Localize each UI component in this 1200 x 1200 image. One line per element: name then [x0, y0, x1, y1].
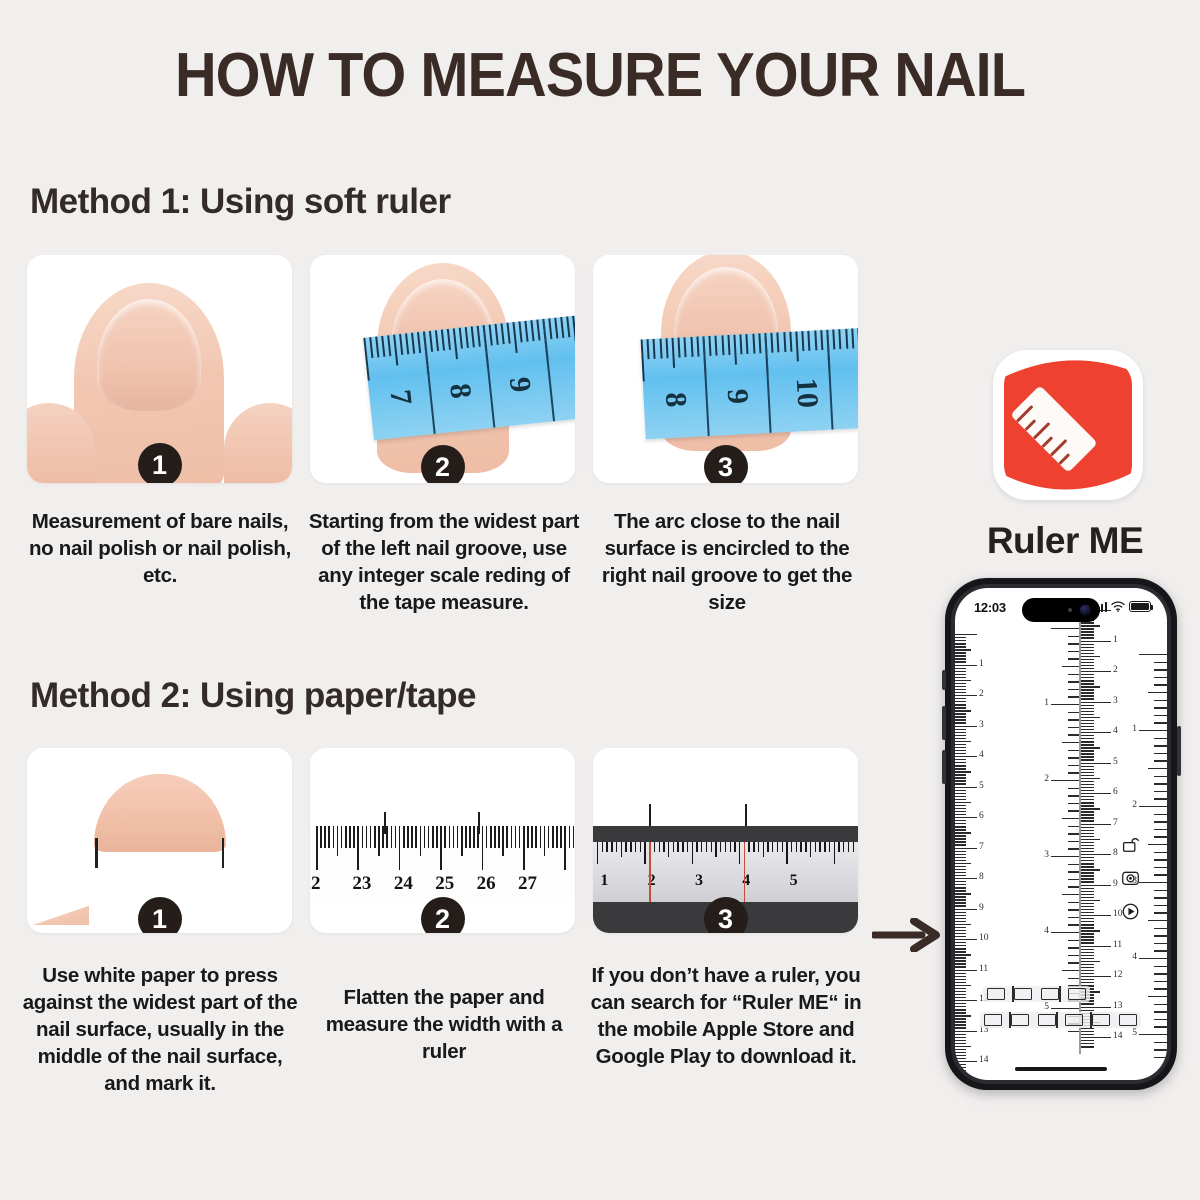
phone-ruler-tick	[1081, 958, 1094, 959]
phone-ruler-tick	[1154, 950, 1167, 951]
phone-ruler-tick	[955, 780, 966, 781]
phone-ruler-tick	[955, 661, 966, 662]
ruler-label: 23	[352, 873, 371, 895]
ruler-tick	[428, 826, 430, 848]
play-icon[interactable]	[1121, 902, 1140, 921]
phone-ruler-tick	[1081, 961, 1100, 962]
ruler-label: 3	[695, 872, 703, 890]
ruler-tick	[569, 826, 571, 848]
finger-corner	[33, 893, 89, 925]
phone-ruler-tick	[955, 1037, 966, 1038]
ruler-tick	[362, 826, 364, 848]
rect-tool[interactable]	[1068, 988, 1086, 1000]
phone-ruler-tick	[955, 866, 966, 867]
home-indicator[interactable]	[1015, 1067, 1107, 1071]
phone-ruler-tick	[1081, 839, 1100, 840]
phone-ruler-tick	[955, 921, 966, 922]
ruler-tick	[663, 842, 664, 852]
ruler-tick	[440, 826, 442, 870]
measure-tool-row-top[interactable]	[983, 986, 1090, 1002]
rect-tool[interactable]	[1041, 988, 1059, 1000]
phone-ruler-tick	[1154, 943, 1167, 944]
ruler-tick	[324, 826, 326, 848]
ruler-tick	[625, 842, 626, 852]
ruler-tick	[630, 842, 631, 852]
phone-ruler-tick	[955, 1000, 977, 1001]
phone-ruler-tick	[1081, 891, 1094, 892]
phone-ruler-tick	[1154, 905, 1167, 906]
ruler-tick	[748, 842, 749, 852]
step-5-photo-card: 22324252627 2	[310, 748, 575, 933]
phone-ruler-tick	[955, 683, 966, 684]
phone-ruler-tick	[955, 796, 966, 797]
phone-ruler-tick	[955, 884, 966, 885]
phone-ruler-tick	[1081, 662, 1094, 663]
phone-ruler-tick	[1139, 958, 1167, 959]
phone-ruler-tick	[1081, 933, 1094, 934]
phone-ruler-tick	[1154, 722, 1167, 723]
phone-ruler-tick	[955, 851, 966, 852]
phone-ruler-tick	[955, 829, 966, 830]
phone-ruler-tick	[955, 951, 966, 952]
ruler-tick	[606, 842, 607, 852]
phone-ruler-tick	[955, 997, 966, 998]
ruler-tick	[556, 826, 558, 848]
ruler-tick	[374, 826, 376, 848]
phone-ruler-tick	[955, 665, 977, 666]
ruler-app-icon[interactable]	[993, 350, 1143, 500]
phone-ruler-tick	[1081, 912, 1094, 913]
phone-ruler-label: 8	[979, 872, 984, 882]
tool-button-group[interactable]	[1121, 834, 1143, 926]
phone-ruler-tick	[1154, 1057, 1167, 1058]
ruler-tick	[548, 826, 550, 848]
rect-tool[interactable]	[1038, 1014, 1056, 1026]
rect-tool[interactable]	[1065, 1014, 1083, 1026]
rect-tool[interactable]	[1119, 1014, 1137, 1026]
phone-ruler-tick	[1081, 808, 1100, 809]
phone-ruler-tick	[955, 973, 966, 974]
phone-ruler-tick	[955, 741, 971, 742]
phone-ruler-tick	[1051, 780, 1081, 781]
phone-ruler-tick	[955, 1015, 971, 1016]
phone-ruler-tick	[955, 649, 971, 650]
tape-number: 8	[657, 391, 692, 408]
phone-ruler-tick	[1154, 912, 1167, 913]
tape-number: 10	[788, 377, 824, 409]
phone-ruler-tick	[955, 1058, 966, 1059]
ruler-tick	[767, 842, 768, 852]
ruler-tick	[644, 842, 645, 864]
ruler-tick	[486, 826, 488, 848]
phone-ruler-tick	[1081, 830, 1094, 831]
dynamic-island	[1022, 598, 1100, 622]
page-title: HOW TO MEASURE YOUR NAIL	[42, 40, 1158, 111]
phone-ruler-tick	[1081, 717, 1100, 718]
rect-tool[interactable]	[984, 1014, 1002, 1026]
phone-ruler-tick	[955, 652, 966, 653]
mute-switch[interactable]	[942, 670, 946, 690]
phone-ruler-tick	[1081, 939, 1094, 940]
phone-ruler-tick	[955, 771, 971, 772]
ruler-red-line	[649, 842, 651, 902]
phone-ruler-tick	[1081, 723, 1094, 724]
phone-ruler-tick	[1154, 776, 1167, 777]
phone-ruler-tick	[955, 878, 977, 879]
ruler-tick	[337, 826, 339, 856]
phone-ruler-tick	[955, 811, 966, 812]
lock-icon[interactable]	[1121, 834, 1140, 853]
knuckle-right	[224, 403, 292, 483]
phone-ruler-tick	[1081, 869, 1100, 870]
phone-ruler-label: 14	[979, 1055, 989, 1065]
ruler-tick	[502, 826, 504, 856]
phone-ruler-tick	[955, 1052, 966, 1053]
phone-ruler-tick	[1081, 647, 1094, 648]
battery-icon	[1129, 601, 1151, 612]
phone-ruler-tick	[955, 988, 966, 989]
phone-ruler-tick	[1154, 935, 1167, 936]
ruler-tick	[407, 826, 409, 848]
ruler-tick	[527, 826, 529, 848]
ruler-tick	[531, 826, 533, 848]
step-4-caption: Use white paper to press against the wid…	[22, 962, 298, 1097]
phone-ruler-tick	[1139, 730, 1167, 731]
phone-ruler-tick	[955, 841, 966, 842]
ruler-tick	[758, 842, 759, 852]
ruler-tick	[715, 842, 716, 857]
volume-up-button[interactable]	[942, 706, 946, 740]
phone-ruler-label: 3	[1044, 850, 1049, 860]
ruler-tick	[725, 842, 726, 852]
phone-ruler-tick	[1148, 996, 1167, 997]
phone-ruler-tick	[1081, 1034, 1094, 1035]
phone-ruler-tick	[955, 1040, 966, 1041]
phone-ruler-tick	[1081, 970, 1094, 971]
phone-ruler-tick	[955, 860, 966, 861]
phone-ruler-tick	[955, 765, 966, 766]
phone-ruler-tick	[1154, 867, 1167, 868]
phone-ruler-tick	[1081, 906, 1094, 907]
phone-ruler-tick	[1081, 946, 1111, 947]
ruler-tick	[436, 826, 438, 848]
phone-ruler-tick	[1081, 726, 1094, 727]
ruler-tick	[515, 826, 517, 848]
step-badge: 2	[421, 445, 465, 483]
phone-ruler-tick	[1081, 720, 1094, 721]
phone-ruler-tick	[955, 722, 966, 723]
phone-ruler-tick	[955, 939, 977, 940]
phone-ruler-tick	[1081, 766, 1094, 767]
ruler-tick	[786, 842, 787, 864]
phone-ruler-tick	[955, 1046, 971, 1047]
phone-ruler-tick	[955, 945, 966, 946]
phone-ruler-tick	[955, 1043, 966, 1044]
phone-ruler-tick	[1081, 875, 1094, 876]
phone-ruler-tick	[955, 963, 966, 964]
phone-ruler-tick	[1081, 952, 1094, 953]
ruler-tick	[415, 826, 417, 848]
phone-ruler-tick	[955, 909, 977, 910]
phone-ruler-tick	[955, 692, 966, 693]
phone-ruler-tick	[1154, 1049, 1167, 1050]
phone-ruler-tick	[1154, 760, 1167, 761]
phone-ruler-tick	[955, 1009, 966, 1010]
phone-ruler-tick	[955, 750, 966, 751]
device-edge-top	[593, 826, 858, 842]
phone-ruler-tick	[1081, 735, 1094, 736]
phone-ruler-tick	[1081, 781, 1094, 782]
phone-ruler-tick	[1154, 859, 1167, 860]
phone-ruler-tick	[1081, 793, 1111, 794]
phone-ruler-tick	[955, 912, 966, 913]
ruler-tick	[378, 826, 380, 856]
phone-ruler-tick	[1081, 714, 1094, 715]
phone-ruler-tick	[955, 768, 966, 769]
phone-ruler-tick	[1081, 863, 1094, 864]
ruler-tick	[391, 826, 393, 848]
mark-right	[478, 812, 480, 834]
phone-ruler-label: 4	[1132, 952, 1137, 962]
step-5-caption: Flatten the paper and measure the width …	[308, 984, 580, 1065]
ruler-tick	[838, 842, 839, 852]
phone-ruler-tick	[1081, 1046, 1094, 1047]
phone-ruler-tick	[955, 863, 971, 864]
phone-ruler-tick	[1154, 890, 1167, 891]
rect-tool[interactable]	[1092, 1014, 1110, 1026]
status-indicators	[1094, 601, 1151, 612]
ruler-tick	[345, 826, 347, 848]
ruler-tick	[834, 842, 835, 864]
rect-tool[interactable]	[1014, 988, 1032, 1000]
phone-ruler-tick	[1081, 909, 1094, 910]
phone-ruler-tick	[1139, 654, 1167, 655]
phone-ruler-tick	[955, 820, 966, 821]
ruler-tick	[453, 826, 455, 848]
ruler-tick	[668, 842, 669, 857]
phone-ruler-tick	[1081, 744, 1094, 745]
phone-ruler-tick	[955, 671, 966, 672]
phone-ruler-tick	[1154, 1019, 1167, 1020]
ruler-label: 25	[435, 873, 454, 895]
phone-ruler-tick	[1081, 698, 1094, 699]
ruler-tick	[763, 842, 764, 857]
ruler-tick	[506, 826, 508, 848]
phone-ruler-tick	[955, 966, 966, 967]
ruler-tick	[490, 826, 492, 848]
ruler-tick	[349, 826, 351, 848]
ruler-tick	[320, 826, 322, 848]
phone-ruler-label: 11	[979, 964, 988, 974]
phone-ruler-tick	[1154, 981, 1167, 982]
phone-ruler-tick	[1081, 1043, 1094, 1044]
phone-ruler-tick	[955, 726, 977, 727]
ruler-tick	[730, 842, 731, 852]
phone-ruler-tick	[1081, 967, 1094, 968]
phone-ruler-tick	[1154, 791, 1167, 792]
ruler-tick	[782, 842, 783, 852]
camera-icon[interactable]	[1121, 868, 1140, 887]
phone-screen[interactable]: 12:03	[955, 588, 1167, 1080]
phone-ruler-tick	[1081, 894, 1094, 895]
ruler-tick	[805, 842, 806, 852]
ruler-label: 2	[311, 873, 321, 895]
ruler-tick	[420, 826, 422, 856]
tape-number: 8	[442, 382, 477, 400]
phone-ruler-tick	[1139, 882, 1167, 883]
ruler-tick	[777, 842, 778, 852]
phone-ruler-tick	[1051, 1008, 1081, 1009]
app-icon-container[interactable]	[993, 350, 1143, 500]
phone-ruler-tick	[1081, 842, 1094, 843]
ruler-tick	[564, 826, 566, 870]
rect-tool[interactable]	[987, 988, 1005, 1000]
phone-ruler-tick	[1148, 920, 1167, 921]
ruler-tick	[682, 842, 683, 852]
phone-ruler-tick	[955, 729, 966, 730]
phone-ruler-tick	[1081, 860, 1094, 861]
phone-ruler-tick	[1081, 656, 1100, 657]
phone-ruler-tick	[1051, 856, 1081, 857]
photo-tape-right-groove: 891011 3	[593, 255, 858, 483]
phone-ruler-tick	[955, 655, 966, 656]
ruler-tick	[573, 826, 575, 848]
phone-ruler-tick	[955, 790, 966, 791]
phone-ruler-tick	[1081, 881, 1094, 882]
ruler-tick	[602, 842, 603, 852]
phone-ruler-tick	[955, 1064, 966, 1065]
ruler-tick	[353, 826, 355, 848]
phone-ruler-tick	[955, 1018, 966, 1019]
step-1-photo-card: 1	[27, 255, 292, 483]
phone-ruler-tick	[1081, 824, 1111, 825]
phone-ruler-tick	[1081, 708, 1094, 709]
phone-ruler-tick	[1081, 827, 1094, 828]
ruler-tick	[621, 842, 622, 857]
phone-ruler-tick	[955, 704, 966, 705]
mark-left	[384, 812, 386, 834]
phone-ruler-tick	[955, 805, 966, 806]
ruler-tick	[711, 842, 712, 852]
phone-ruler-tick	[1081, 979, 1094, 980]
phone-ruler-tick	[955, 838, 966, 839]
ruler-scale-center-left: 12345	[1033, 618, 1081, 1080]
phone-ruler-tick	[1081, 872, 1094, 873]
phone-ruler-tick	[1081, 641, 1111, 642]
paper-ruler: 22324252627	[310, 826, 575, 898]
phone-ruler-tick	[1081, 885, 1111, 886]
phone-ruler-tick	[1081, 820, 1094, 821]
phone-ruler-tick	[1081, 976, 1111, 977]
phone-ruler-tick	[1154, 814, 1167, 815]
phone-ruler-tick	[1081, 936, 1094, 937]
nail-shape	[97, 299, 201, 411]
step-1-caption: Measurement of bare nails, no nail polis…	[24, 508, 296, 589]
phone-ruler-tick	[955, 924, 971, 925]
phone-ruler-tick	[955, 854, 966, 855]
phone-ruler-tick	[955, 826, 966, 827]
phone-ruler-tick	[955, 875, 966, 876]
phone-ruler-tick	[955, 1049, 966, 1050]
phone-ruler-tick	[1081, 964, 1094, 965]
phone-ruler-tick	[1081, 772, 1094, 773]
ruler-tick	[473, 826, 475, 848]
phone-ruler-tick	[955, 716, 966, 717]
phone-ruler-tick	[1081, 637, 1094, 638]
ruler-tick	[815, 842, 816, 852]
ruler-tick	[519, 826, 521, 848]
ruler-tick	[341, 826, 343, 848]
phone-ruler-tick	[1081, 924, 1094, 925]
ruler-tick	[654, 842, 655, 852]
phone-ruler-tick	[955, 893, 971, 894]
phone-ruler-tick	[955, 994, 966, 995]
phone-ruler-tick	[1081, 778, 1100, 779]
power-button[interactable]	[1177, 726, 1181, 776]
ruler-tick	[544, 826, 546, 856]
phone-ruler-tick	[1081, 680, 1094, 681]
nail-through-paper	[94, 774, 226, 852]
phone-ruler-tick	[1081, 1007, 1111, 1008]
volume-down-button[interactable]	[942, 750, 946, 784]
rect-tool[interactable]	[1011, 1014, 1029, 1026]
phone-ruler-tick	[955, 991, 966, 992]
phone-ruler-tick	[1081, 686, 1100, 687]
ruler-label: 1	[600, 872, 608, 890]
phone-ruler-tick	[955, 1031, 977, 1032]
phone-ruler-tick	[955, 774, 966, 775]
phone-ruler-tick	[955, 646, 966, 647]
phone-ruler-tick	[1081, 796, 1094, 797]
phone-ruler-tick	[1139, 1034, 1167, 1035]
phone-ruler-tick	[1154, 783, 1167, 784]
phone-ruler-tick	[955, 759, 966, 760]
phone-ruler-tick	[1081, 702, 1111, 703]
phone-ruler-tick	[955, 844, 966, 845]
phone-ruler-label: 6	[979, 811, 984, 821]
ruler-tick	[772, 842, 773, 852]
step-badge: 1	[138, 443, 182, 483]
phone-ruler-tick	[1154, 700, 1167, 701]
ruler-tick	[444, 826, 446, 848]
phone-ruler-tick	[955, 970, 977, 971]
phone-ruler-tick	[955, 707, 966, 708]
phone-ruler-tick	[1154, 745, 1167, 746]
phone-ruler-tick	[1081, 759, 1094, 760]
phone-ruler-tick	[1081, 833, 1094, 834]
phone-ruler-label: 2	[1044, 774, 1049, 784]
phone-ruler-tick	[955, 802, 971, 803]
ruler-tick	[540, 826, 542, 848]
ruler-tick	[734, 842, 735, 852]
phone-ruler-tick	[955, 753, 966, 754]
phone-ruler-tick	[955, 857, 966, 858]
ruler-tick	[357, 826, 359, 870]
measure-tool-row-bottom[interactable]	[980, 1012, 1141, 1028]
phone-ruler-tick	[1154, 966, 1167, 967]
phone-ruler-tick	[1081, 763, 1111, 764]
phone-ruler-tick	[1051, 932, 1081, 933]
phone-ruler-tick	[1081, 695, 1094, 696]
ruler-tick	[597, 842, 598, 864]
phone-ruler-tick	[1154, 738, 1167, 739]
phone-ruler-label: 5	[979, 781, 984, 791]
phone-ruler-tick	[955, 918, 966, 919]
ruler-red-line	[744, 842, 746, 902]
method-2-heading: Method 2: Using paper/tape	[30, 676, 476, 716]
pencil-mark-left	[95, 838, 98, 868]
phone-ruler-tick	[1081, 653, 1094, 654]
